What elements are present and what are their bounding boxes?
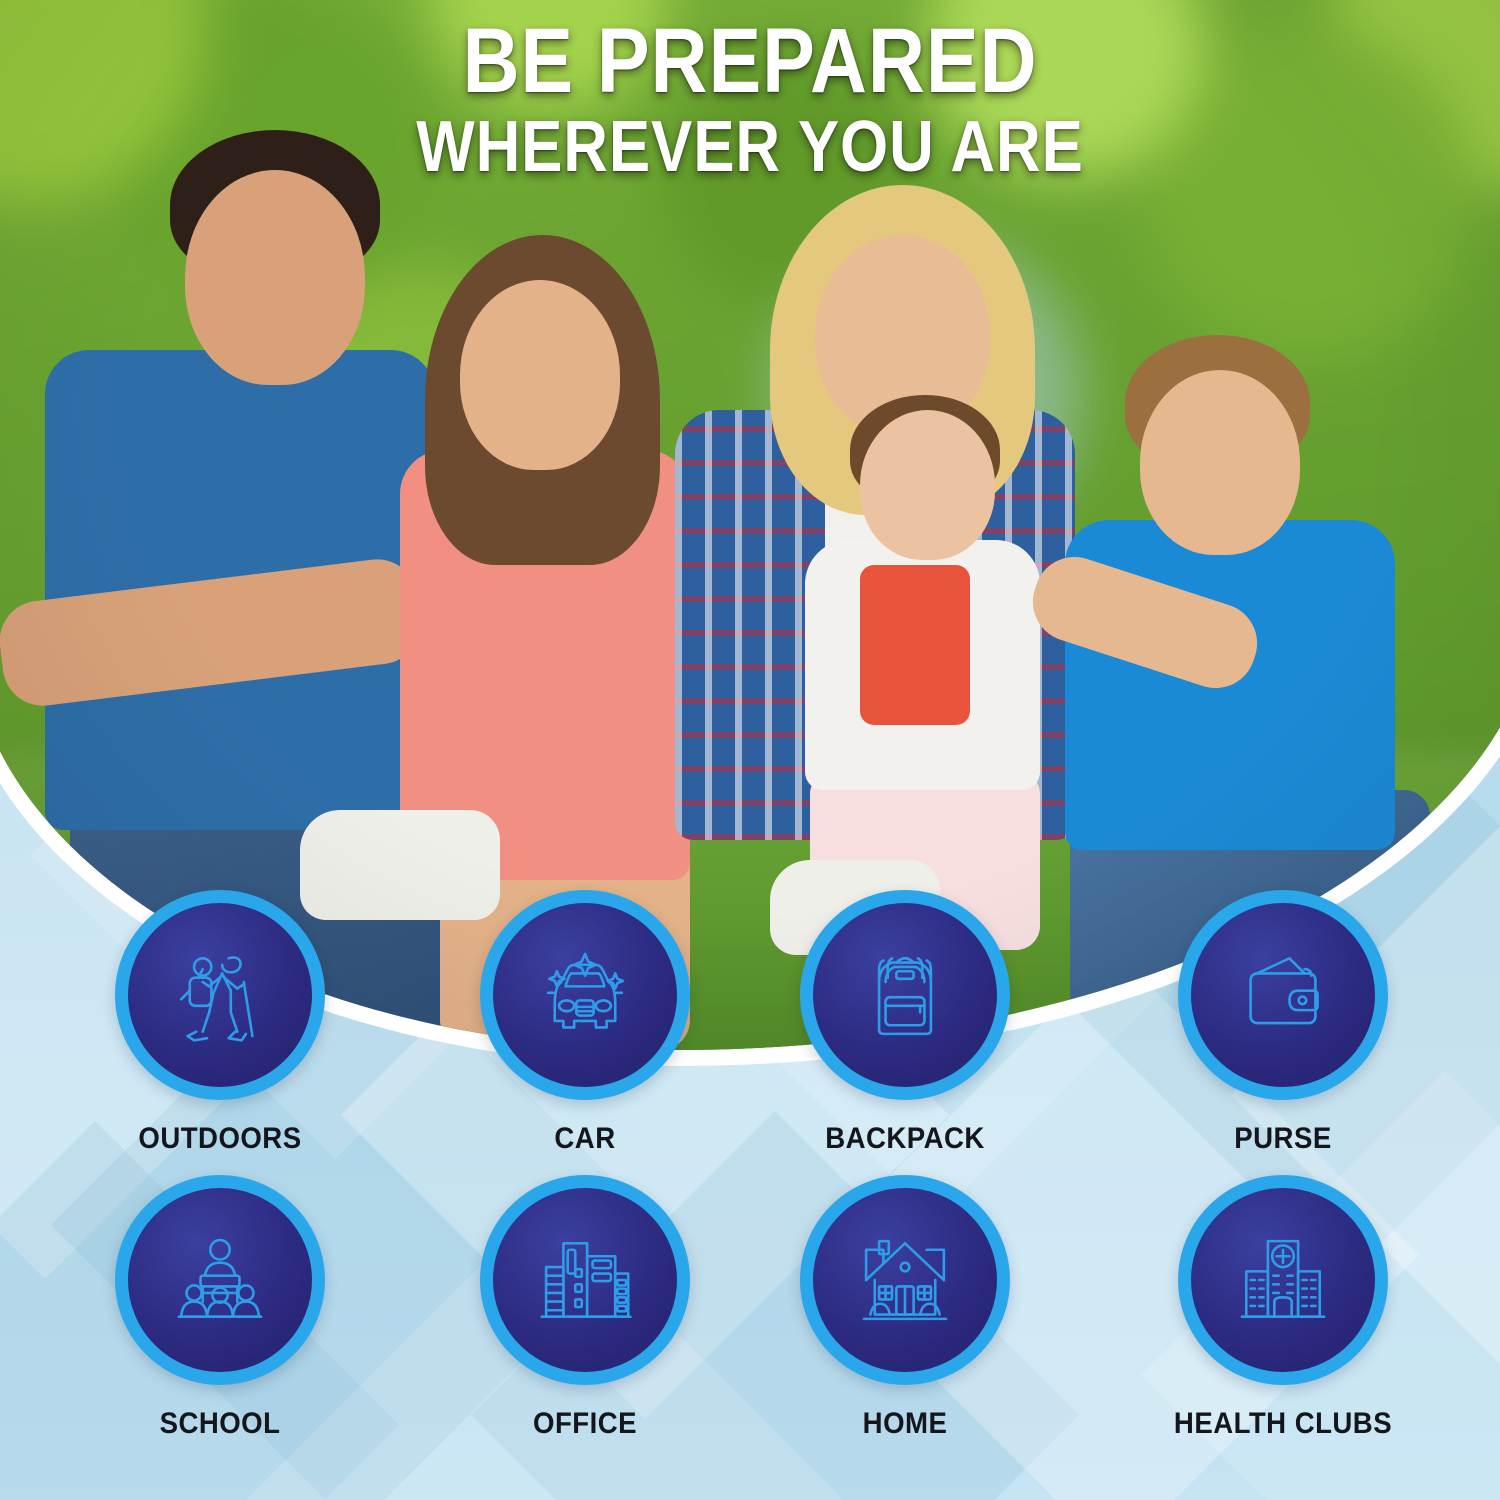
usage-item-label: PURSE — [1163, 1122, 1402, 1156]
house-icon — [851, 1226, 959, 1334]
usage-item-home[interactable]: HOME — [775, 1175, 1035, 1441]
backpack-icon-circle[interactable] — [800, 890, 1010, 1100]
office-icon-circle[interactable] — [480, 1175, 690, 1385]
car-icon — [531, 941, 639, 1049]
usage-item-health-clubs[interactable]: HEALTH CLUBS — [1153, 1175, 1413, 1441]
wallet-icon — [1229, 941, 1337, 1049]
purse-icon-circle[interactable] — [1178, 890, 1388, 1100]
usage-item-car[interactable]: CAR — [455, 890, 715, 1156]
poster: BE PREPARED WHEREVER YOU ARE — [0, 0, 1500, 1500]
headline: BE PREPARED WHEREVER YOU ARE — [0, 18, 1500, 182]
home-icon-circle[interactable] — [800, 1175, 1010, 1385]
usage-item-office[interactable]: OFFICE — [455, 1175, 715, 1441]
hospital-icon — [1229, 1226, 1337, 1334]
usage-item-label: HOME — [785, 1407, 1024, 1441]
usage-item-label: SCHOOL — [100, 1407, 339, 1441]
usage-item-backpack[interactable]: BACKPACK — [775, 890, 1035, 1156]
school-icon-circle[interactable] — [115, 1175, 325, 1385]
car-icon-circle[interactable] — [480, 890, 690, 1100]
usage-row-1: OUTDOORS — [0, 880, 1500, 1165]
outdoors-icon-circle[interactable] — [115, 890, 325, 1100]
usage-item-outdoors[interactable]: OUTDOORS — [90, 890, 350, 1156]
usage-item-school[interactable]: SCHOOL — [90, 1175, 350, 1441]
hiker-icon — [166, 941, 274, 1049]
usage-item-label: HEALTH CLUBS — [1163, 1407, 1402, 1441]
usage-item-label: OUTDOORS — [100, 1122, 339, 1156]
usage-location-grid: OUTDOORS — [0, 880, 1500, 1450]
city-buildings-icon — [531, 1226, 639, 1334]
usage-item-label: BACKPACK — [785, 1122, 1024, 1156]
headline-line-2: WHEREVER YOU ARE — [105, 113, 1395, 181]
headline-line-1: BE PREPARED — [105, 18, 1395, 105]
usage-item-purse[interactable]: PURSE — [1153, 890, 1413, 1156]
backpack-icon — [851, 941, 959, 1049]
health-clubs-icon-circle[interactable] — [1178, 1175, 1388, 1385]
usage-item-label: OFFICE — [465, 1407, 704, 1441]
usage-item-label: CAR — [465, 1122, 704, 1156]
classroom-icon — [166, 1226, 274, 1334]
usage-row-2: SCHOOL — [0, 1165, 1500, 1450]
